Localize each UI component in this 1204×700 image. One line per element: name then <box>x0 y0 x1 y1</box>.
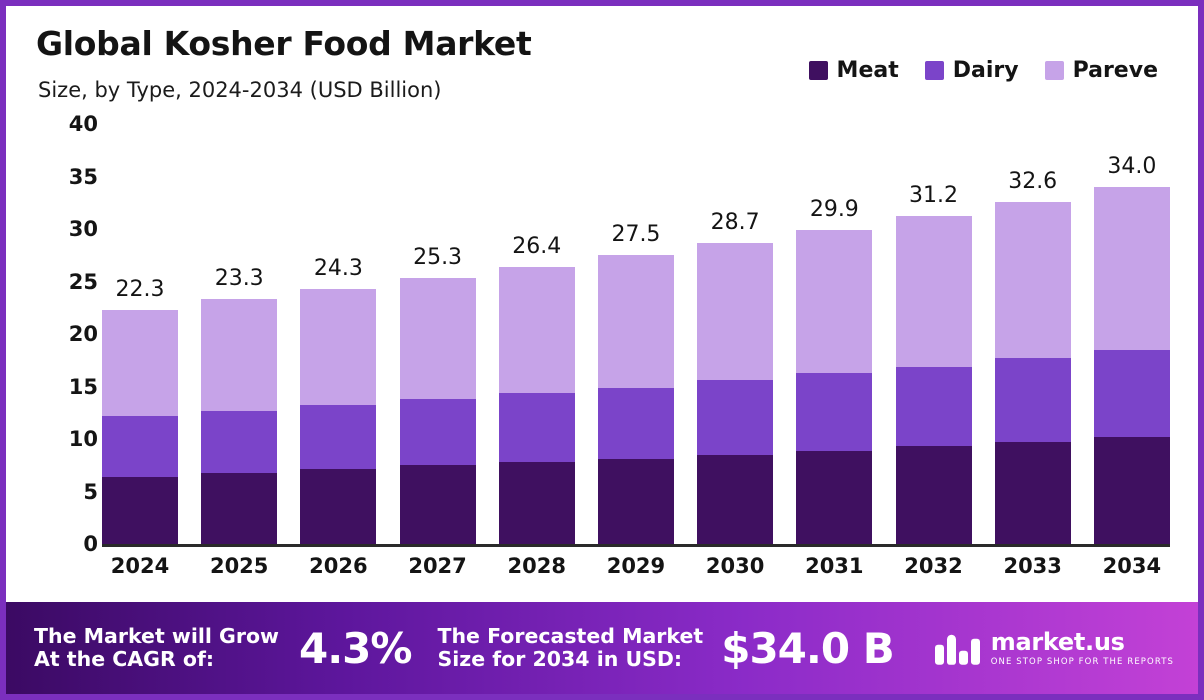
bar-segment-dairy <box>697 380 773 455</box>
bar-segment-dairy <box>400 399 476 465</box>
footer-forecast-text: The Forecasted Market Size for 2034 in U… <box>437 625 703 671</box>
bar-segment-pareve <box>1094 187 1170 350</box>
bar-segment-dairy <box>201 411 277 473</box>
x-tick-label: 2034 <box>1094 554 1170 578</box>
bar-total-label: 31.2 <box>909 183 958 208</box>
bar-column: 29.9 <box>796 124 872 544</box>
bar-total-label: 25.3 <box>413 245 462 270</box>
bar-total-label: 32.6 <box>1008 169 1057 194</box>
x-tick-label: 2027 <box>400 554 476 578</box>
bar-segment-meat <box>201 473 277 544</box>
bar-segment-meat <box>102 477 178 544</box>
y-tick-label: 10 <box>36 427 98 451</box>
x-tick-label: 2029 <box>598 554 674 578</box>
legend-label: Pareve <box>1073 58 1158 83</box>
bar-total-label: 26.4 <box>512 234 561 259</box>
legend-swatch-icon <box>809 61 828 80</box>
bar-segment-pareve <box>400 278 476 399</box>
page-title: Global Kosher Food Market <box>36 24 531 63</box>
brand-tagline: ONE STOP SHOP FOR THE REPORTS <box>991 658 1174 667</box>
footer-cagr-line2: At the CAGR of: <box>34 648 279 671</box>
bar-segment-dairy <box>896 367 972 447</box>
y-tick-label: 0 <box>36 532 98 556</box>
bar-segment-meat <box>1094 437 1170 544</box>
bar-segment-meat <box>796 451 872 544</box>
y-tick-label: 40 <box>36 112 98 136</box>
bar-segment-meat <box>995 442 1071 544</box>
footer-forecast-value: $34.0 B <box>721 624 893 673</box>
brand-logo: market.us ONE STOP SHOP FOR THE REPORTS <box>935 630 1174 667</box>
chart-subtitle: Size, by Type, 2024-2034 (USD Billion) <box>38 78 441 102</box>
bar-segment-meat <box>697 455 773 544</box>
legend-label: Dairy <box>953 58 1019 83</box>
bar-total-label: 24.3 <box>314 256 363 281</box>
bar-segment-pareve <box>697 243 773 381</box>
bar-segment-pareve <box>896 216 972 366</box>
footer-cagr-text: The Market will Grow At the CAGR of: <box>34 625 279 671</box>
footer-cagr-value: 4.3% <box>299 624 411 673</box>
subtitle-unit: (USD Billion) <box>310 78 442 102</box>
bar-segment-pareve <box>201 299 277 410</box>
bar-segment-meat <box>400 465 476 544</box>
x-tick-label: 2031 <box>796 554 872 578</box>
x-axis-labels: 2024202520262027202820292030203120322033… <box>102 554 1170 578</box>
market-us-logo-icon <box>935 631 981 665</box>
bar-segment-pareve <box>300 289 376 406</box>
bar-segment-meat <box>598 459 674 544</box>
bar-segment-dairy <box>995 358 1071 442</box>
footer-forecast-line2: Size for 2034 in USD: <box>437 648 703 671</box>
bar-segment-dairy <box>598 388 674 459</box>
x-tick-label: 2025 <box>201 554 277 578</box>
brand-text: market.us ONE STOP SHOP FOR THE REPORTS <box>991 630 1174 667</box>
x-tick-label: 2032 <box>896 554 972 578</box>
bar-segment-pareve <box>796 230 872 373</box>
bar-segment-dairy <box>796 373 872 451</box>
x-tick-label: 2033 <box>995 554 1071 578</box>
bar-segment-dairy <box>1094 350 1170 437</box>
bar-column: 32.6 <box>995 124 1071 544</box>
y-axis: 0510152025303540 <box>36 124 98 544</box>
y-tick-label: 35 <box>36 165 98 189</box>
bar-total-label: 22.3 <box>116 277 165 302</box>
bar-total-label: 29.9 <box>810 197 859 222</box>
x-tick-label: 2030 <box>697 554 773 578</box>
bar-segment-dairy <box>300 405 376 469</box>
footer-banner: The Market will Grow At the CAGR of: 4.3… <box>6 602 1198 694</box>
bar-column: 24.3 <box>300 124 376 544</box>
bar-segment-pareve <box>995 202 1071 358</box>
brand-name: market.us <box>991 630 1174 654</box>
legend-item-dairy: Dairy <box>925 58 1019 83</box>
bar-column: 23.3 <box>201 124 277 544</box>
footer-forecast-line1: The Forecasted Market <box>437 625 703 648</box>
bar-column: 28.7 <box>697 124 773 544</box>
legend-label: Meat <box>837 58 899 83</box>
bar-segment-dairy <box>499 393 575 462</box>
bar-column: 26.4 <box>499 124 575 544</box>
footer-cagr-line1: The Market will Grow <box>34 625 279 648</box>
bar-segment-dairy <box>102 416 178 477</box>
y-tick-label: 30 <box>36 217 98 241</box>
chart-plot-area: 22.323.324.325.326.427.528.729.931.232.6… <box>102 124 1170 544</box>
bar-segment-pareve <box>598 255 674 387</box>
bar-column: 25.3 <box>400 124 476 544</box>
y-tick-label: 20 <box>36 322 98 346</box>
bar-segment-meat <box>896 446 972 544</box>
bar-column: 22.3 <box>102 124 178 544</box>
y-tick-label: 15 <box>36 375 98 399</box>
bar-column: 27.5 <box>598 124 674 544</box>
bar-total-label: 27.5 <box>611 222 660 247</box>
bar-segment-meat <box>499 462 575 544</box>
legend-item-pareve: Pareve <box>1045 58 1158 83</box>
subtitle-main: Size, by Type, 2024-2034 <box>38 78 303 102</box>
y-tick-label: 5 <box>36 480 98 504</box>
bar-segment-meat <box>300 469 376 544</box>
x-tick-label: 2028 <box>499 554 575 578</box>
legend-swatch-icon <box>1045 61 1064 80</box>
chart-infographic: Global Kosher Food Market Size, by Type,… <box>0 0 1204 700</box>
legend-item-meat: Meat <box>809 58 899 83</box>
bar-column: 34.0 <box>1094 124 1170 544</box>
chart-legend: MeatDairyPareve <box>809 58 1158 83</box>
x-axis-line <box>102 544 1170 547</box>
legend-swatch-icon <box>925 61 944 80</box>
bar-total-label: 34.0 <box>1107 154 1156 179</box>
bar-segment-pareve <box>102 310 178 416</box>
bar-total-label: 23.3 <box>215 266 264 291</box>
y-tick-label: 25 <box>36 270 98 294</box>
x-tick-label: 2024 <box>102 554 178 578</box>
bar-column: 31.2 <box>896 124 972 544</box>
bar-segment-pareve <box>499 267 575 393</box>
x-tick-label: 2026 <box>300 554 376 578</box>
bar-total-label: 28.7 <box>711 210 760 235</box>
